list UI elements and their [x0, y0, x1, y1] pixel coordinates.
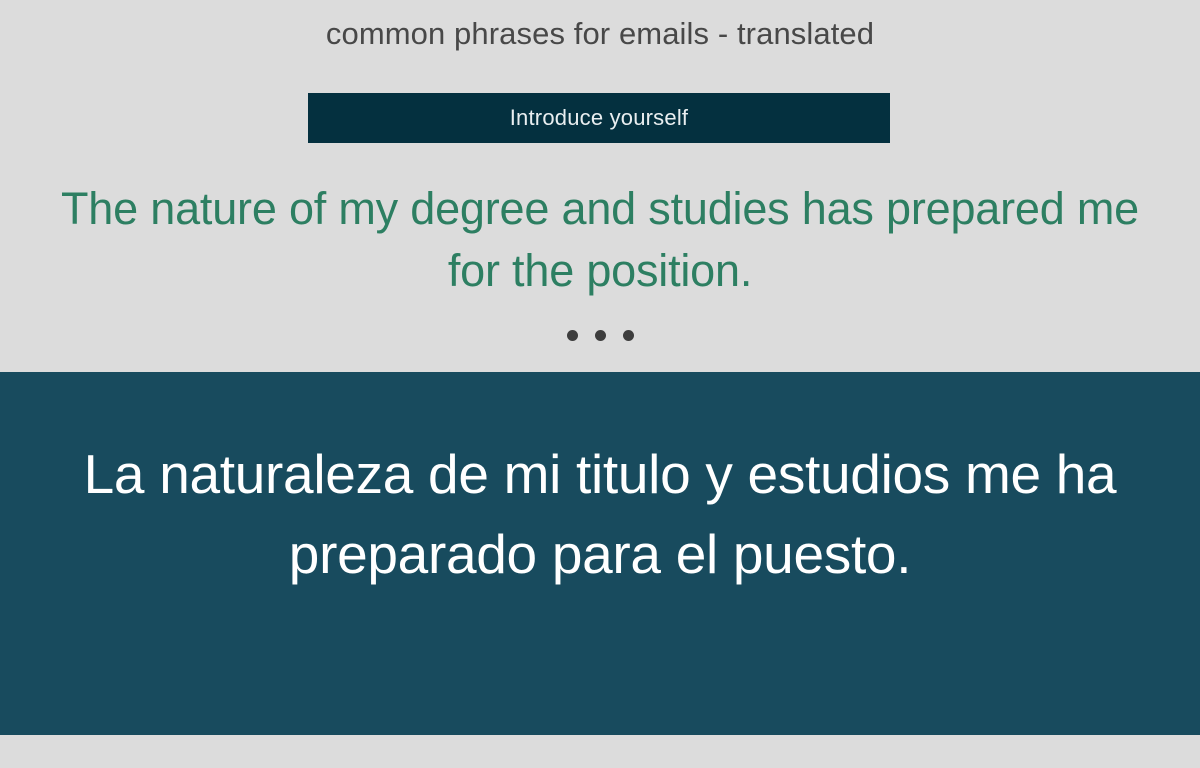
slide-canvas: common phrases for emails - translated I…: [0, 0, 1200, 768]
ellipsis-indicator: [0, 330, 1200, 341]
translation-phrase-panel: La naturaleza de mi titulo y estudios me…: [0, 372, 1200, 735]
ellipsis-dot: [567, 330, 578, 341]
ellipsis-dot: [623, 330, 634, 341]
page-title: common phrases for emails - translated: [0, 14, 1200, 54]
source-phrase-text: The nature of my degree and studies has …: [60, 178, 1140, 302]
translation-phrase-text: La naturaleza de mi titulo y estudios me…: [80, 434, 1120, 594]
ellipsis-dot: [595, 330, 606, 341]
source-phrase-panel: common phrases for emails - translated I…: [0, 0, 1200, 372]
category-badge[interactable]: Introduce yourself: [308, 93, 890, 143]
footer-strip: [0, 735, 1200, 768]
status-badge: Introduce yourself: [510, 105, 688, 131]
